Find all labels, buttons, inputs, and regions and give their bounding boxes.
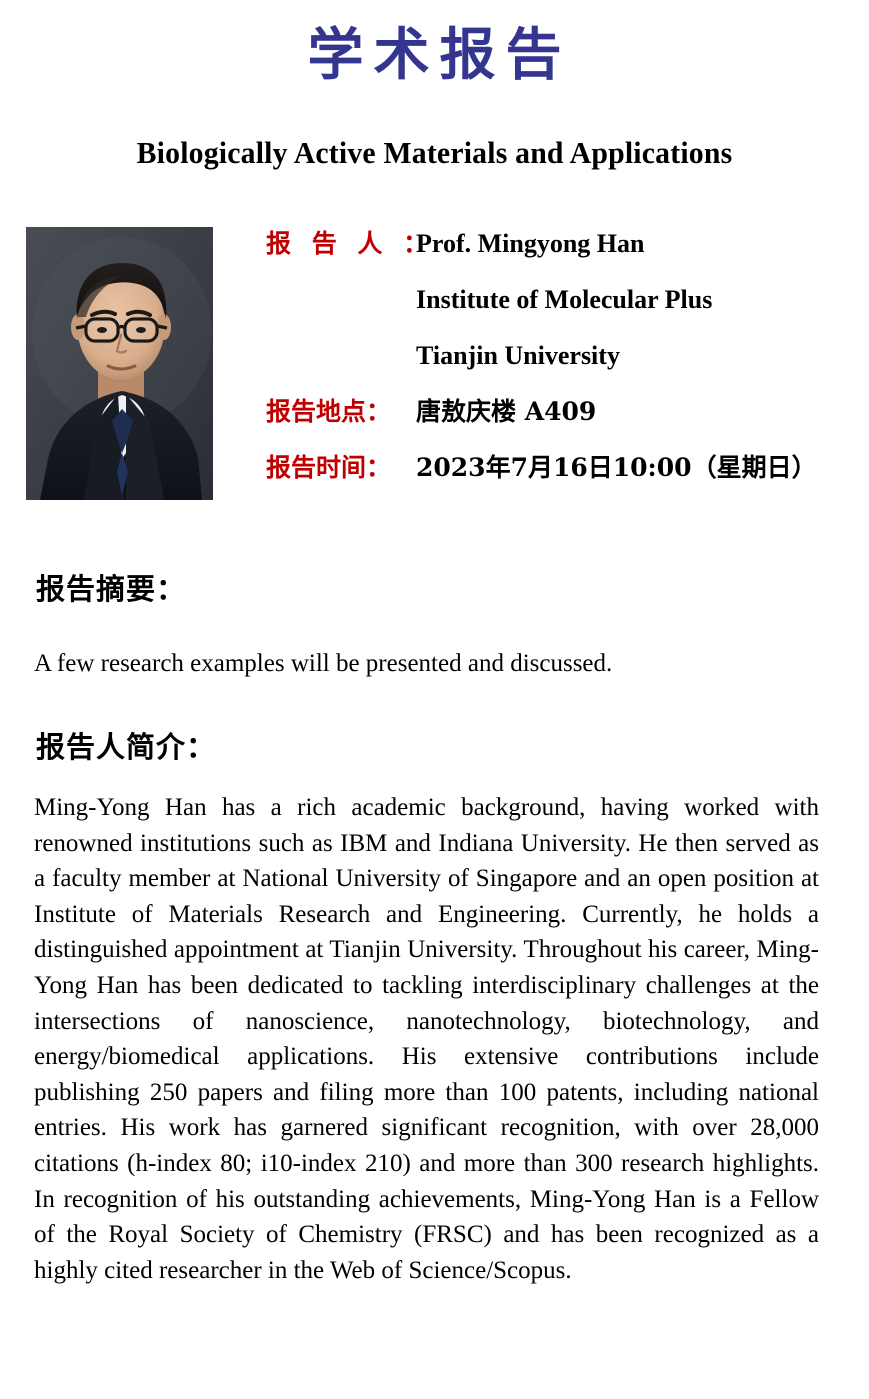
time-label: 报告时间： xyxy=(266,451,416,485)
venue-line: 报告地点： 唐敖庆楼 A409 xyxy=(266,395,866,451)
bio-text: Ming-Yong Han has a rich academic backgr… xyxy=(34,790,819,1288)
speaker-label: 报 告 人 ： xyxy=(266,227,416,261)
seminar-poster: 学术报告 Biologically Active Materials and A… xyxy=(0,0,869,1399)
abstract-heading: 报告摘要： xyxy=(36,570,186,608)
abstract-text: A few research examples will be presente… xyxy=(34,646,819,681)
time-value: 2023年7月16日10:00（星期日） xyxy=(416,451,817,485)
speaker-affiliation-line-2: Tianjin University xyxy=(266,339,866,395)
venue-value: 唐敖庆楼 A409 xyxy=(416,395,596,429)
venue-label: 报告地点： xyxy=(266,395,416,429)
speaker-name-line: 报 告 人 ： Prof. Mingyong Han xyxy=(266,227,866,283)
speaker-affiliation-2: Tianjin University xyxy=(416,339,620,373)
time-line: 报告时间： 2023年7月16日10:00（星期日） xyxy=(266,451,866,507)
speaker-details: 报 告 人 ： Prof. Mingyong Han Institute of … xyxy=(266,227,866,507)
portrait-image xyxy=(26,227,213,500)
speaker-affiliation-line-1: Institute of Molecular Plus xyxy=(266,283,866,339)
speaker-affiliation-1: Institute of Molecular Plus xyxy=(416,283,712,317)
speaker-name: Prof. Mingyong Han xyxy=(416,227,644,261)
bio-heading: 报告人简介： xyxy=(36,728,216,766)
speaker-info-row: 报 告 人 ： Prof. Mingyong Han Institute of … xyxy=(0,227,869,517)
speaker-portrait-photo xyxy=(26,227,213,500)
talk-title: Biologically Active Materials and Applic… xyxy=(17,133,851,173)
banner-title: 学术报告 xyxy=(0,22,869,88)
